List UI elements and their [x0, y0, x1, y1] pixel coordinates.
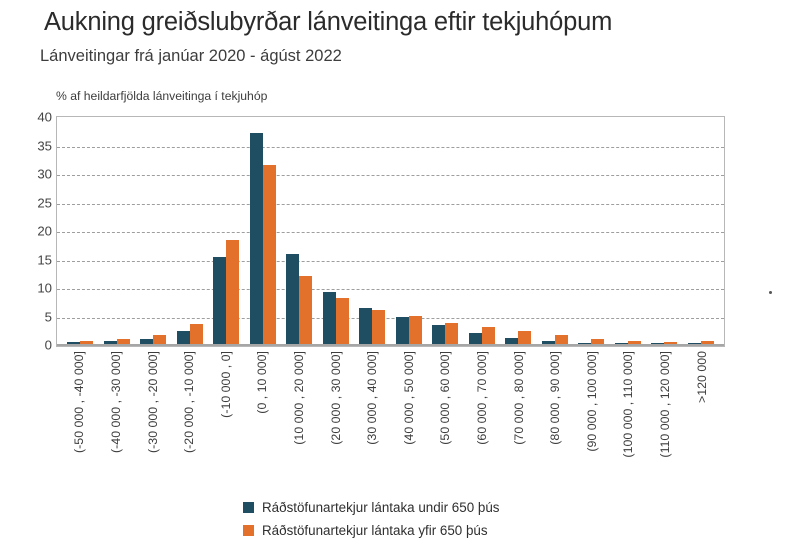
x-axis-labels: (-50 000 , -40 000](-40 000 , -30 000](-…: [56, 351, 725, 491]
x-axis-tick: (80 000 , 90 000]: [537, 351, 574, 491]
x-axis-tick-label: (-50 000 , -40 000]: [73, 351, 85, 453]
bar[interactable]: [153, 335, 166, 344]
y-axis-tick-label: 20: [6, 224, 52, 237]
bar[interactable]: [140, 339, 153, 344]
bar[interactable]: [615, 343, 628, 345]
bar[interactable]: [263, 165, 276, 344]
y-axis-tick-label: 0: [6, 338, 52, 351]
bar[interactable]: [336, 298, 349, 344]
bar-group: [464, 117, 501, 344]
plot-area: [56, 116, 725, 347]
bar[interactable]: [701, 341, 714, 344]
bar-series-layer: [57, 117, 724, 344]
bar-group: [318, 117, 355, 344]
x-axis-tick-label: (0 , 10 000]: [256, 351, 268, 414]
x-axis-tick: >120 000: [683, 351, 720, 491]
bar[interactable]: [432, 325, 445, 344]
y-axis-tick-label: 5: [6, 310, 52, 323]
bar[interactable]: [505, 338, 518, 344]
bar-group: [281, 117, 318, 344]
x-axis-tick: (20 000 , 30 000]: [317, 351, 354, 491]
y-axis-tick-label: 30: [6, 167, 52, 180]
bar[interactable]: [664, 342, 677, 344]
x-axis-tick: (60 000 , 70 000]: [464, 351, 501, 491]
bar[interactable]: [482, 327, 495, 344]
bar[interactable]: [80, 341, 93, 344]
x-axis-tick: (-20 000 , -10 000]: [171, 351, 208, 491]
y-axis-tick-label: 35: [6, 139, 52, 152]
bar[interactable]: [578, 343, 591, 345]
bar-group: [354, 117, 391, 344]
bar-group: [62, 117, 99, 344]
x-axis-tick: (90 000 , 100 000]: [574, 351, 611, 491]
x-axis-tick: (-30 000 , -20 000]: [134, 351, 171, 491]
x-axis-tick: (70 000 , 80 000]: [500, 351, 537, 491]
bar[interactable]: [372, 310, 385, 344]
axis-baseline: [57, 344, 724, 346]
x-axis-tick-label: (-10 000 , 0]: [220, 351, 232, 418]
bar[interactable]: [226, 240, 239, 344]
bar-group: [172, 117, 209, 344]
chart-subtitle: Lánveitingar frá janúar 2020 - ágúst 202…: [40, 47, 342, 66]
bar-group: [646, 117, 683, 344]
chart-title: Aukning greiðslubyrðar lánveitinga eftir…: [44, 8, 612, 37]
bar-group: [245, 117, 282, 344]
bar[interactable]: [445, 323, 458, 344]
bar[interactable]: [299, 276, 312, 344]
x-axis-tick-label: (50 000 , 60 000]: [439, 351, 451, 445]
legend-item[interactable]: Ráðstöfunartekjur lántaka yfir 650 þús: [243, 523, 499, 538]
x-axis-tick: (40 000 , 50 000]: [390, 351, 427, 491]
x-axis-tick: (-40 000 , -30 000]: [98, 351, 135, 491]
bar[interactable]: [518, 331, 531, 344]
chart-container: Aukning greiðslubyrðar lánveitinga eftir…: [0, 0, 800, 558]
bar-group: [99, 117, 136, 344]
x-axis-tick-label: (-40 000 , -30 000]: [110, 351, 122, 453]
bar[interactable]: [688, 343, 701, 345]
legend-label: Ráðstöfunartekjur lántaka undir 650 þús: [262, 500, 499, 515]
bar[interactable]: [104, 341, 117, 344]
legend-label: Ráðstöfunartekjur lántaka yfir 650 þús: [262, 523, 488, 538]
x-axis-tick: (100 000 , 110 000]: [610, 351, 647, 491]
x-axis-tick-label: (30 000 , 40 000]: [366, 351, 378, 445]
bar[interactable]: [591, 339, 604, 344]
bar[interactable]: [651, 343, 664, 345]
bar-group: [500, 117, 537, 344]
x-axis-tick-label: (-30 000 , -20 000]: [146, 351, 158, 453]
bar-group: [610, 117, 647, 344]
bar[interactable]: [409, 316, 422, 344]
bar[interactable]: [469, 333, 482, 344]
x-axis-tick: (-50 000 , -40 000]: [61, 351, 98, 491]
x-axis-tick-label: (40 000 , 50 000]: [403, 351, 415, 445]
x-axis-tick-label: (-20 000 , -10 000]: [183, 351, 195, 453]
bar[interactable]: [286, 254, 299, 344]
x-axis-tick-label: (80 000 , 90 000]: [549, 351, 561, 445]
bar-group: [537, 117, 574, 344]
bar-group: [208, 117, 245, 344]
x-axis-tick-label: (100 000 , 110 000]: [622, 351, 634, 458]
bar-group: [427, 117, 464, 344]
stray-mark: [769, 291, 772, 294]
legend-swatch-icon: [243, 502, 254, 513]
x-axis-tick: (50 000 , 60 000]: [427, 351, 464, 491]
bar-group: [135, 117, 172, 344]
bar[interactable]: [555, 335, 568, 344]
x-axis-tick: (10 000 , 20 000]: [281, 351, 318, 491]
bar[interactable]: [67, 342, 80, 344]
bar[interactable]: [628, 341, 641, 344]
bar[interactable]: [542, 341, 555, 344]
x-axis-tick: (110 000 , 120 000]: [647, 351, 684, 491]
x-axis-tick-label: (90 000 , 100 000]: [586, 351, 598, 452]
x-axis-tick: (0 , 10 000]: [244, 351, 281, 491]
bar[interactable]: [117, 339, 130, 344]
bar[interactable]: [190, 324, 203, 344]
chart-legend: Ráðstöfunartekjur lántaka undir 650 þúsR…: [243, 500, 499, 538]
y-axis-tick-label: 10: [6, 281, 52, 294]
x-axis-tick-label: (20 000 , 30 000]: [329, 351, 341, 445]
legend-item[interactable]: Ráðstöfunartekjur lántaka undir 650 þús: [243, 500, 499, 515]
x-axis-tick-label: (60 000 , 70 000]: [476, 351, 488, 445]
bar[interactable]: [213, 257, 226, 344]
bar[interactable]: [323, 292, 336, 344]
bar-group: [573, 117, 610, 344]
bar[interactable]: [250, 133, 263, 344]
x-axis-tick-label: (110 000 , 120 000]: [659, 351, 671, 458]
x-axis-tick-label: (10 000 , 20 000]: [293, 351, 305, 445]
y-axis-caption: % af heildarfjölda lánveitinga í tekjuhó…: [56, 89, 267, 103]
x-axis-tick-label: >120 000: [695, 351, 707, 403]
bar-group: [683, 117, 720, 344]
bar[interactable]: [359, 308, 372, 344]
bar[interactable]: [177, 331, 190, 344]
x-axis-tick-label: (70 000 , 80 000]: [512, 351, 524, 445]
x-axis-tick: (-10 000 , 0]: [207, 351, 244, 491]
y-axis: 4035302520151050: [0, 116, 52, 347]
bar[interactable]: [396, 317, 409, 344]
y-axis-tick-label: 25: [6, 196, 52, 209]
x-axis-tick: (30 000 , 40 000]: [354, 351, 391, 491]
y-axis-tick-label: 15: [6, 253, 52, 266]
bar-group: [391, 117, 428, 344]
legend-swatch-icon: [243, 525, 254, 536]
y-axis-tick-label: 40: [6, 110, 52, 123]
